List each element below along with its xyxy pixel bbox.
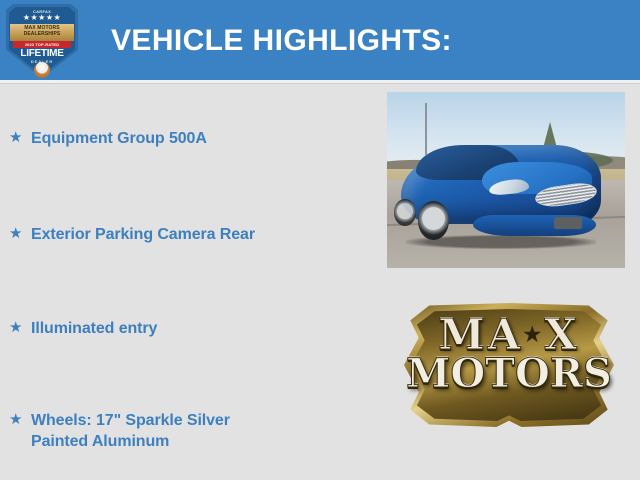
highlight-label: Illuminated entry bbox=[31, 318, 157, 339]
max-motors-logo: MA★X MOTORS bbox=[404, 303, 614, 427]
photo-utility-pole bbox=[425, 103, 427, 156]
photo-car-front-wheel bbox=[418, 201, 449, 240]
list-item: ★ Equipment Group 500A bbox=[9, 128, 207, 149]
photo-license-plate-bracket bbox=[554, 217, 583, 229]
logo-word-motors: MOTORS bbox=[404, 353, 614, 395]
badge-award-main: LIFETIME bbox=[6, 48, 78, 59]
star-bullet-icon: ★ bbox=[9, 318, 22, 338]
logo-star-icon: ★ bbox=[523, 322, 544, 346]
photo-car-rear-wheel bbox=[394, 199, 415, 225]
star-bullet-icon: ★ bbox=[9, 410, 22, 430]
badge-stars: ★★★★★ bbox=[6, 14, 78, 22]
page-title: VEHICLE HIGHLIGHTS: bbox=[111, 24, 452, 58]
highlight-label: Equipment Group 500A bbox=[31, 128, 207, 149]
header-divider bbox=[0, 80, 640, 84]
star-bullet-icon: ★ bbox=[9, 128, 22, 148]
vehicle-highlights-slide: CARFAX ★★★★★ MAX MOTORS DEALERSHIPS 2023… bbox=[0, 0, 640, 480]
list-item: ★ Wheels: 17" Sparkle Silver Painted Alu… bbox=[9, 410, 230, 452]
badge-award-year: 2023 TOP-RATED bbox=[13, 41, 71, 48]
badge-mascot-icon bbox=[34, 62, 50, 78]
list-item: ★ Exterior Parking Camera Rear bbox=[9, 224, 255, 245]
badge-dealer-ribbon: MAX MOTORS DEALERSHIPS bbox=[10, 24, 74, 41]
star-bullet-icon: ★ bbox=[9, 224, 22, 244]
highlight-label: Wheels: 17" Sparkle Silver Painted Alumi… bbox=[31, 410, 230, 452]
list-item: ★ Illuminated entry bbox=[9, 318, 157, 339]
badge-dealer-name-line2: DEALERSHIPS bbox=[10, 31, 74, 37]
carfax-lifetime-dealer-badge: CARFAX ★★★★★ MAX MOTORS DEALERSHIPS 2023… bbox=[6, 4, 78, 78]
highlight-label: Exterior Parking Camera Rear bbox=[31, 224, 255, 245]
vehicle-photo[interactable] bbox=[387, 92, 625, 268]
